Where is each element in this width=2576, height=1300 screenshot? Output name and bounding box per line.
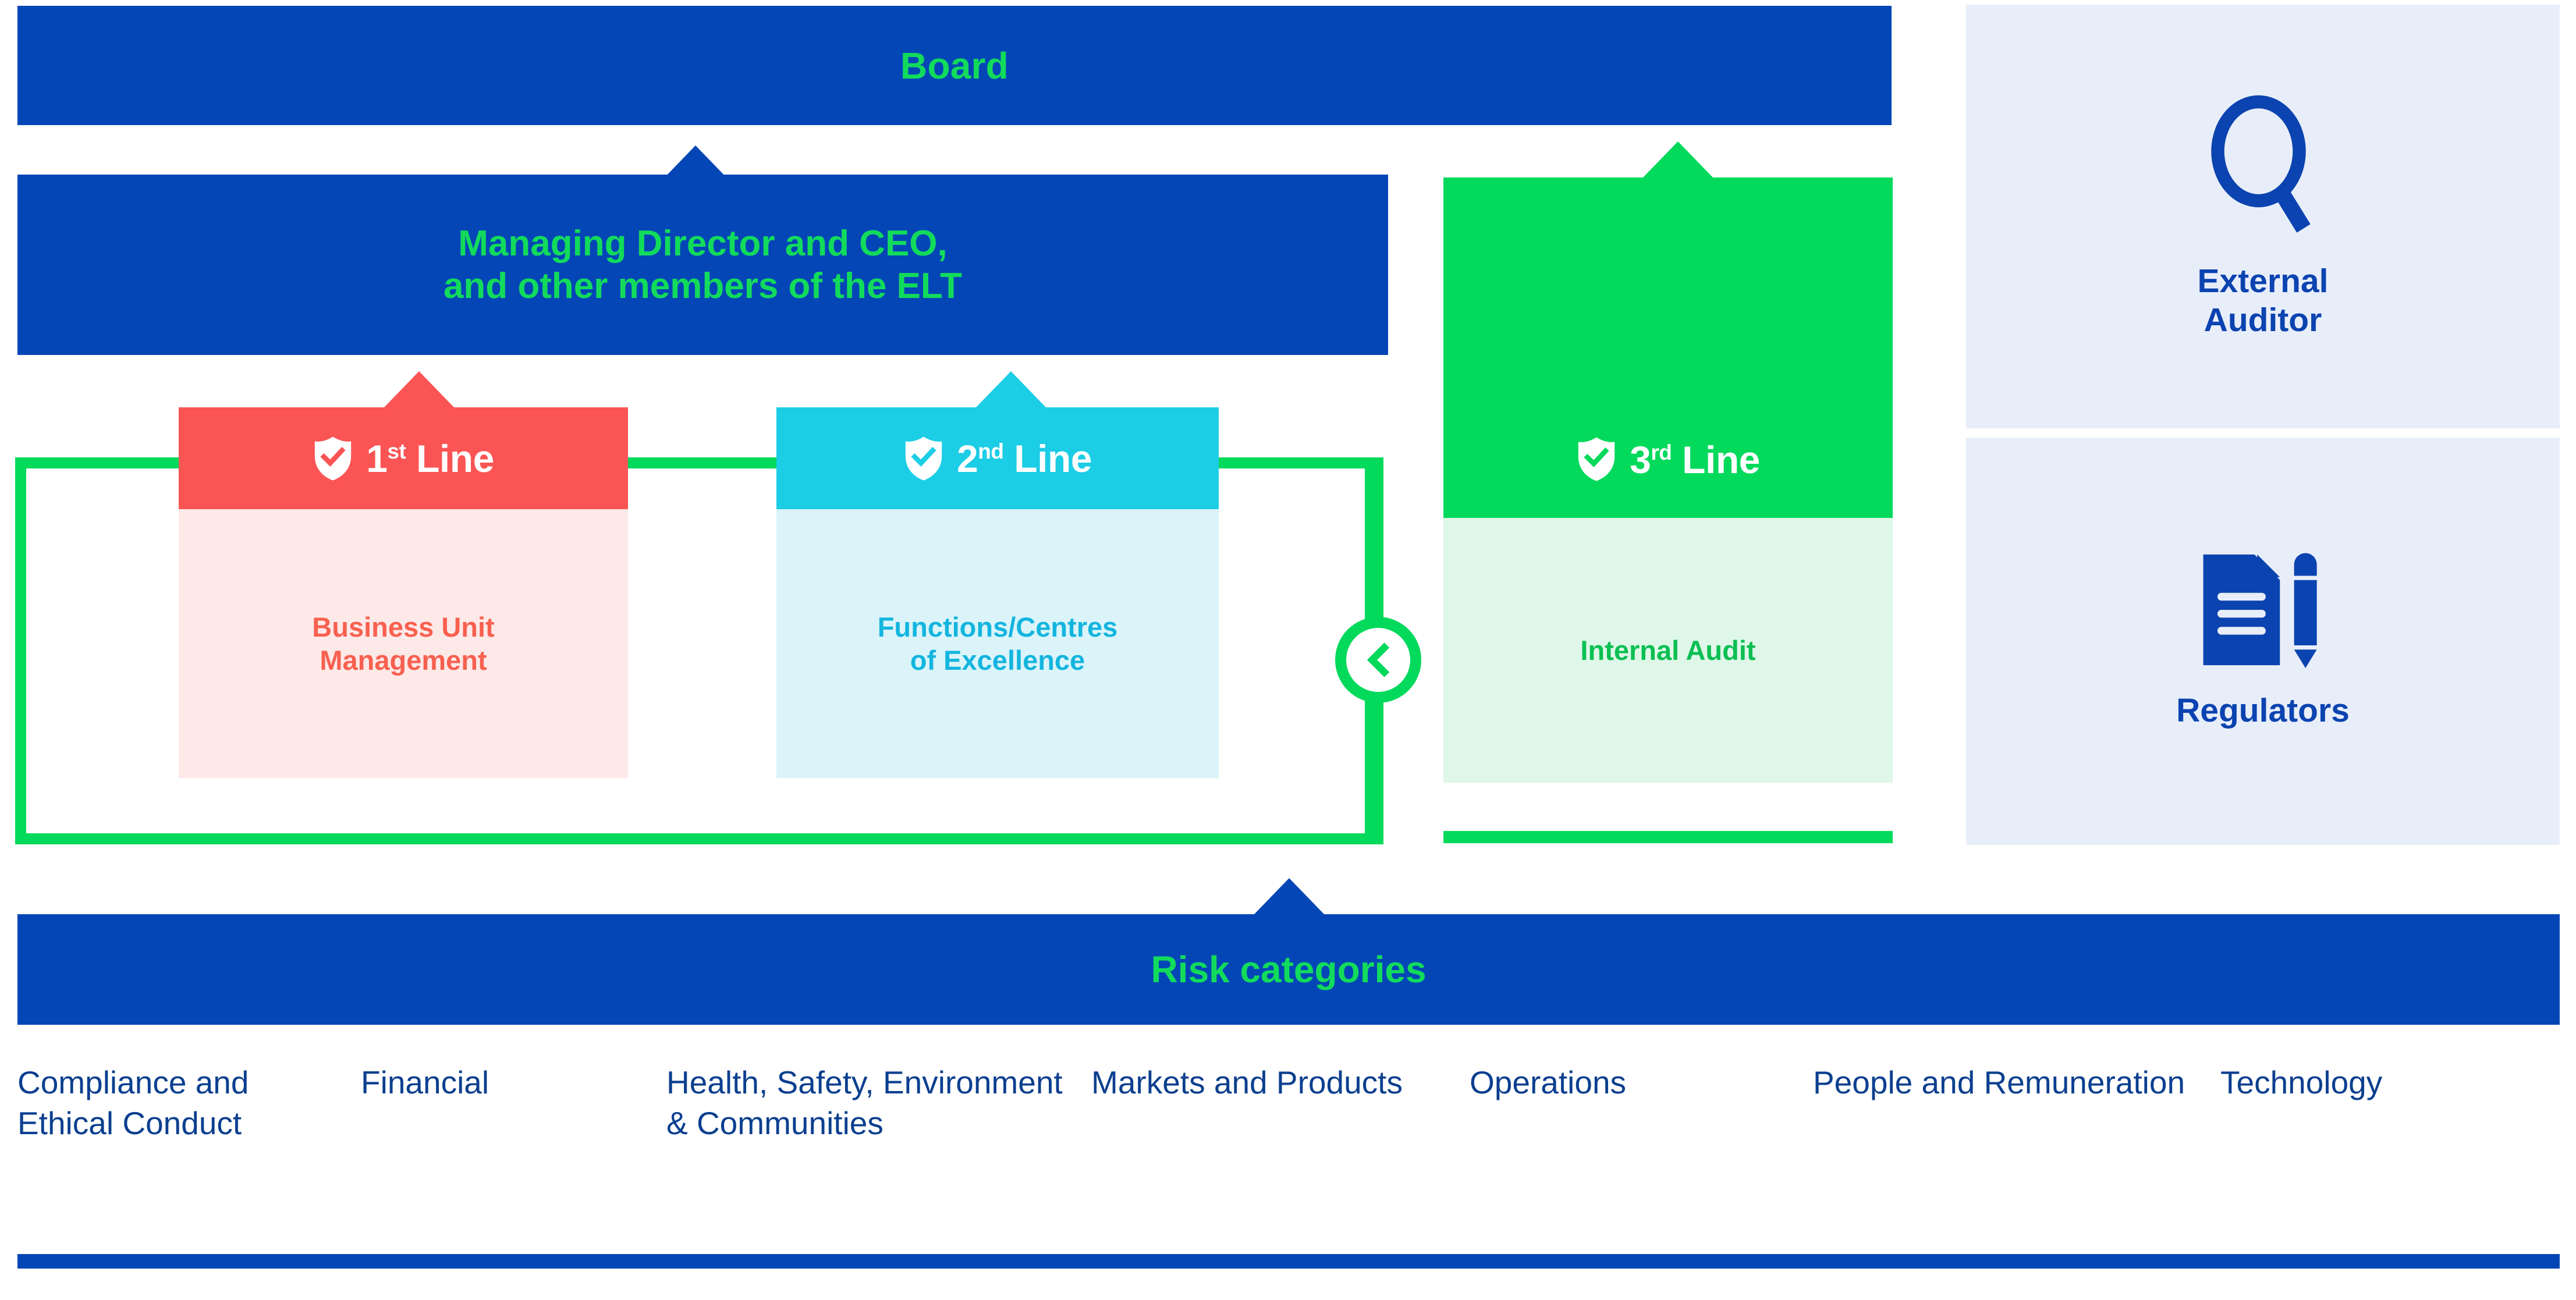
- second-line-body-text: Functions/Centres of Excellence: [878, 610, 1118, 677]
- second-line-body-line1: Functions/Centres: [878, 610, 1118, 644]
- executive-label: Managing Director and CEO, and other mem…: [443, 222, 962, 307]
- first-line-card: 1st Line Business Unit Management: [179, 407, 628, 778]
- risk-category-item: Financial: [361, 1062, 666, 1103]
- third-line-body-text: Internal Audit: [1580, 634, 1755, 667]
- risk-category-item: People and Remuneration: [1813, 1062, 2220, 1103]
- external-auditor-caption-line1: External: [2198, 262, 2329, 301]
- second-line-suffix: nd: [978, 439, 1003, 463]
- board-label: Board: [900, 44, 1009, 87]
- three-lines-of-defence-diagram: Board Managing Director and CEO, and oth…: [0, 0, 2576, 1300]
- risk-category-item: Health, Safety, Environment & Communitie…: [666, 1062, 1091, 1144]
- regulators-panel: Regulators: [1966, 438, 2560, 845]
- external-auditor-caption-line2: Auditor: [2198, 301, 2329, 340]
- third-line-ordinal: 3: [1630, 438, 1651, 481]
- third-line-suffix: rd: [1651, 441, 1672, 464]
- second-line-card: 2nd Line Functions/Centres of Excellence: [776, 407, 1219, 778]
- first-line-header: 1st Line: [179, 407, 628, 509]
- executive-label-line2: and other members of the ELT: [443, 265, 962, 307]
- document-pencil-icon: [2190, 552, 2336, 668]
- board-bar: Board: [17, 6, 1892, 125]
- third-line-card: 3rd Line Internal Audit: [1443, 177, 1893, 783]
- arrow-second-line-to-executive: [976, 371, 1046, 407]
- second-line-word: Line: [1014, 437, 1092, 480]
- risk-category-item: Markets and Products: [1091, 1062, 1470, 1103]
- risk-categories-bar: Risk categories: [17, 914, 2560, 1025]
- chevron-left-circle-icon[interactable]: [1335, 617, 1421, 703]
- first-line-body-line2: Management: [312, 644, 494, 677]
- executive-label-line1: Managing Director and CEO,: [443, 222, 962, 265]
- first-line-suffix: st: [387, 439, 406, 463]
- third-line-word: Line: [1682, 438, 1760, 481]
- external-auditor-panel: External Auditor: [1966, 5, 2560, 428]
- first-line-body: Business Unit Management: [179, 509, 628, 778]
- risk-categories-heading: Risk categories: [1151, 948, 1426, 991]
- shield-check-icon: [313, 436, 353, 481]
- external-auditor-caption: External Auditor: [2198, 262, 2329, 340]
- shield-check-icon: [1576, 436, 1617, 482]
- first-line-body-line1: Business Unit: [312, 610, 494, 644]
- second-line-ordinal: 2: [957, 437, 978, 480]
- risk-category-item: Compliance and Ethical Conduct: [17, 1062, 361, 1144]
- second-line-body-line2: of Excellence: [878, 644, 1118, 677]
- risk-categories-list: Compliance and Ethical Conduct Financial…: [17, 1062, 2560, 1231]
- arrow-third-line-to-board: [1643, 141, 1713, 177]
- second-line-body: Functions/Centres of Excellence: [776, 509, 1219, 778]
- third-line-body: Internal Audit: [1443, 518, 1893, 783]
- risk-category-item: Technology: [2220, 1062, 2560, 1103]
- third-line-body-line1: Internal Audit: [1580, 634, 1755, 667]
- third-line-header: 3rd Line: [1443, 177, 1893, 518]
- bottom-divider: [17, 1254, 2560, 1269]
- first-line-body-text: Business Unit Management: [312, 610, 494, 677]
- regulators-caption: Regulators: [2176, 691, 2350, 730]
- second-line-title: 2nd Line: [957, 436, 1092, 481]
- regulators-caption-line1: Regulators: [2176, 691, 2350, 730]
- arrow-to-risk-categories: [1254, 878, 1324, 914]
- executive-bar: Managing Director and CEO, and other mem…: [17, 175, 1388, 355]
- shield-check-icon: [903, 436, 944, 481]
- third-line-underline: [1443, 831, 1893, 843]
- magnifier-icon: [2205, 93, 2321, 239]
- first-line-ordinal: 1: [366, 437, 387, 480]
- first-line-title: 1st Line: [366, 436, 494, 481]
- risk-category-item: Operations: [1470, 1062, 1813, 1103]
- second-line-header: 2nd Line: [776, 407, 1219, 509]
- first-line-word: Line: [416, 437, 494, 480]
- arrow-first-line-to-executive: [384, 371, 454, 407]
- third-line-title: 3rd Line: [1630, 438, 1760, 482]
